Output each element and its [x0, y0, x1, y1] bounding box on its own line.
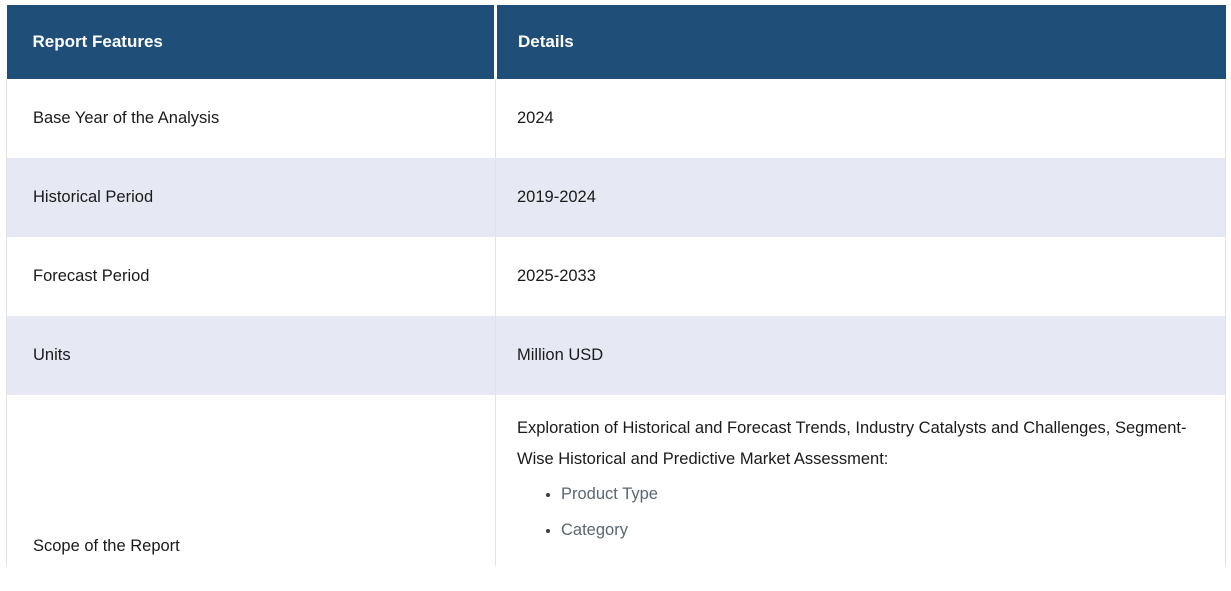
scope-intro-text: Exploration of Historical and Forecast T…	[517, 413, 1211, 475]
scope-segment-list: Product Type Category	[517, 476, 1211, 548]
cell-feature-base-year: Base Year of the Analysis	[7, 79, 496, 158]
cell-feature-historical-period: Historical Period	[7, 158, 496, 237]
table-row: Forecast Period 2025-2033	[7, 237, 1226, 316]
cell-detail-historical-period: 2019-2024	[496, 158, 1226, 237]
list-item: Category	[561, 512, 1211, 548]
table-row: Scope of the Report Exploration of Histo…	[7, 395, 1226, 566]
column-header-details: Details	[496, 5, 1226, 79]
table-header-row: Report Features Details	[7, 5, 1226, 79]
report-features-table: Report Features Details Base Year of the…	[6, 5, 1226, 566]
cell-detail-units: Million USD	[496, 316, 1226, 395]
cell-feature-forecast-period: Forecast Period	[7, 237, 496, 316]
cell-feature-scope-of-the-report: Scope of the Report	[7, 395, 496, 566]
table-body: Base Year of the Analysis 2024 Historica…	[7, 79, 1226, 566]
cell-feature-units: Units	[7, 316, 496, 395]
cell-detail-scope-of-the-report: Exploration of Historical and Forecast T…	[496, 395, 1226, 566]
table-row: Units Million USD	[7, 316, 1226, 395]
table-row: Historical Period 2019-2024	[7, 158, 1226, 237]
column-header-report-features: Report Features	[7, 5, 496, 79]
list-item: Product Type	[561, 476, 1211, 512]
table-row: Base Year of the Analysis 2024	[7, 79, 1226, 158]
report-table-container: Report Features Details Base Year of the…	[0, 0, 1231, 566]
table-header: Report Features Details	[7, 5, 1226, 79]
cell-detail-forecast-period: 2025-2033	[496, 237, 1226, 316]
cell-detail-base-year: 2024	[496, 79, 1226, 158]
